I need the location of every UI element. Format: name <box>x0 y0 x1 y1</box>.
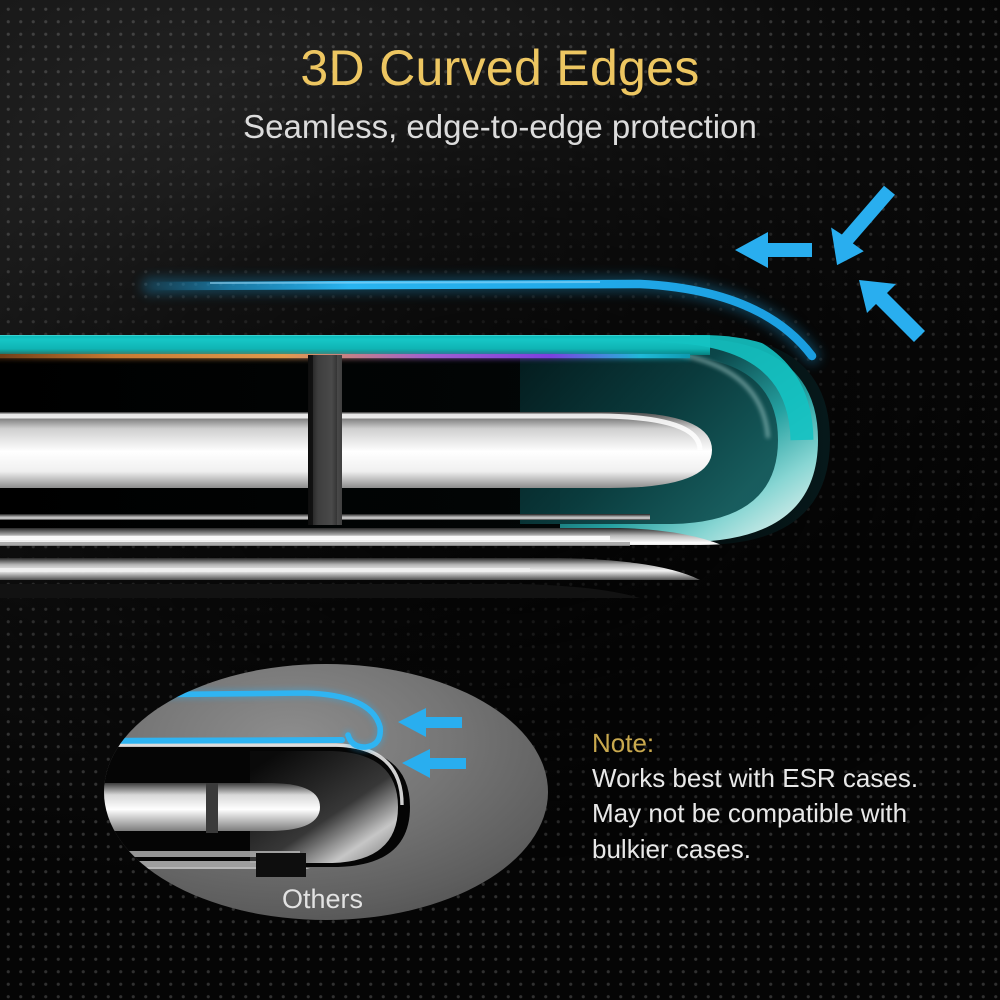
phone-side-button <box>308 355 342 525</box>
note-label: Note: <box>592 726 964 761</box>
note-line: Works best with ESR cases. <box>592 761 964 796</box>
note-line: May not be compatible with <box>592 796 964 831</box>
inset-phone-body <box>80 745 410 877</box>
metal-frame-band <box>0 412 712 488</box>
note-line: bulkier cases. <box>592 832 964 867</box>
page-title: 3D Curved Edges <box>0 0 1000 96</box>
arrow-down-right-icon <box>859 280 925 342</box>
product-feature-image: 3D Curved Edges Seamless, edge-to-edge p… <box>0 0 1000 1000</box>
phone-body <box>0 331 830 598</box>
frame-lower-bands <box>0 514 740 554</box>
arrow-left-icon <box>735 232 812 268</box>
header: 3D Curved Edges Seamless, edge-to-edge p… <box>0 0 1000 146</box>
phone-edge-illustration <box>0 150 1000 650</box>
note-block: Note: Works best with ESR cases. May not… <box>592 726 964 867</box>
iridescent-hairline <box>0 353 690 360</box>
page-subtitle: Seamless, edge-to-edge protection <box>0 96 1000 146</box>
flush-protector-line <box>80 740 342 741</box>
inset-caption: Others <box>80 884 565 915</box>
frame-bottom-slivers <box>0 542 700 598</box>
arrow-down-left-icon <box>827 185 901 266</box>
